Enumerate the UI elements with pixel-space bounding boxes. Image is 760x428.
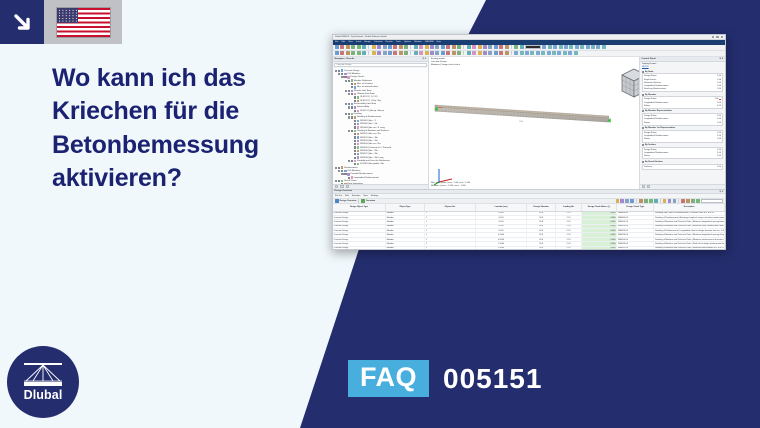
control-row-value[interactable]: 1.00 [717,82,721,84]
table-toolbar-icon-14[interactable] [681,199,685,203]
toolbar-icon-ext-6[interactable] [575,45,579,49]
model-viewport[interactable]: Existing modelConcrete DesignMembers | D… [429,57,639,189]
tree-checkbox[interactable] [354,146,356,148]
toolbar-icon-30[interactable] [494,51,498,55]
tree-checkbox[interactable] [348,103,350,105]
toolbar-icon-11[interactable] [393,45,397,49]
table-column-header[interactable]: Design Situation [527,204,556,211]
toolbar-display-field[interactable] [525,45,541,49]
control-row-value[interactable]: 1.00 [717,105,721,107]
table-column-header[interactable]: Location (xm) [476,204,527,211]
tree-item-icon [357,136,359,138]
toolbar-icon-8[interactable] [377,45,381,49]
table-cell: CO1 [556,242,581,245]
toolbar-icon-9[interactable] [383,51,387,55]
table-menu-selection[interactable]: Selection [352,195,361,197]
table-menu-file-pro[interactable]: File Pro [335,195,342,197]
control-row-value[interactable]: 1.00 [717,75,721,77]
table-cell: CO1 [556,229,581,232]
tree-checkbox[interactable] [354,140,356,142]
tree-checkbox[interactable] [354,136,356,138]
toolbar-icon-34[interactable] [514,45,518,49]
menu-item-view[interactable]: View [348,41,352,43]
control-row[interactable]: Surfaces1.00 [644,165,721,168]
control-row-value[interactable]: 1.00 [717,138,721,140]
toolbar-icon-ext-9[interactable] [563,51,567,55]
toolbar-icon-13[interactable] [404,45,408,49]
toolbar-icon-ext-0[interactable] [542,45,546,49]
navigator-tree[interactable]: -Concrete Design-ULS Members-Design Chec… [333,68,428,184]
toolbar-icon-0[interactable] [335,45,339,49]
toolbar-icon-ext-2[interactable] [553,45,557,49]
control-row-value[interactable]: 1.00 [717,118,721,120]
window-body: Navigator - Results ⚲ ✕ Concrete Design … [333,57,725,189]
table-filter-combo[interactable] [701,199,723,203]
toolbar-icon-10[interactable] [388,51,392,55]
nav-tool-1-icon[interactable] [335,185,338,188]
control-row-value[interactable]: 1.00 [717,102,721,104]
toolbar-icon-12[interactable] [399,51,403,55]
toolbar-icon-19[interactable] [435,45,439,49]
toolbar-icon-22[interactable] [452,45,456,49]
tree-checkbox[interactable] [348,90,350,92]
toolbar-icon-4[interactable] [357,45,361,49]
control-row[interactable]: Stirrup1.00 [644,155,721,158]
control-row-value[interactable]: 1.00 [717,155,721,157]
tree-checkbox[interactable] [341,170,343,172]
menu-item-options[interactable]: Options [404,41,411,43]
control-row-value[interactable]: 1.00 [717,135,721,137]
display-factors-link[interactable]: RFC20 [642,66,649,68]
table-cell: Member [386,225,425,228]
tree-expander-icon[interactable]: - [348,93,350,95]
table-cell: ULS [527,233,556,236]
toolbar-icon-ext-8[interactable] [557,51,561,55]
toolbar-icon-28[interactable] [483,51,487,55]
tree-expander-icon[interactable]: - [348,106,350,108]
toolbar-icon-ext-5[interactable] [541,51,545,55]
table-toolbar-icon-0[interactable] [616,199,620,203]
table-column-header[interactable]: Design Check Type [617,204,654,211]
tree-expander-icon[interactable]: - [345,90,347,92]
table-toolbar-icon-16[interactable] [691,199,695,203]
table-cell: 0.000 [582,229,617,232]
table-cell: 1.5000 [476,247,527,250]
control-row-value[interactable]: 1.00 [717,132,721,134]
toolbar-icon-28[interactable] [483,45,487,49]
control-group-label: By Member 1st Representative [645,127,675,129]
menu-item-help[interactable]: Help [437,41,441,43]
tree-checkbox[interactable] [344,76,346,78]
table-cell: Concrete Design [333,212,386,215]
table-pin-icon[interactable]: ⚲ ✕ [719,190,723,193]
tree-node-label: Ultimate Limit State [357,93,375,95]
tree-item-icon [357,120,359,122]
toolbar-icon-ext-0[interactable] [514,51,518,55]
control-row-value[interactable]: 1.00 [717,88,721,90]
navigator-filter-text: Concrete Design [337,64,352,66]
tree-checkbox[interactable] [354,110,356,112]
toolbar-icon-29[interactable] [488,45,492,49]
toolbar-icon-2[interactable] [346,51,350,55]
group-collapse-icon[interactable]: - [642,144,644,146]
table-cell: 0.000 [582,242,617,245]
tree-checkbox[interactable] [344,173,346,175]
table-column-header[interactable]: Design Check Ratio n [-] [582,204,617,211]
toolbar-icon-ext-7[interactable] [552,51,556,55]
table-toolbar-icon-10[interactable] [663,199,667,203]
menu-item-results[interactable]: Results [386,41,393,43]
window-controls[interactable] [712,36,723,38]
tree-node-label: DR0102 | Acc. / Na. [360,137,378,139]
table-toolbar-icon-15[interactable] [686,199,690,203]
faq-number: 005151 [443,365,542,393]
table-cell: Detailing of Members and Particular Rule… [654,247,725,250]
tree-node-label: Longitudinal Reinforcement [354,177,379,179]
toolbar-icon-5[interactable] [362,45,366,49]
language-flag-badge[interactable] [44,0,122,44]
tree-item-icon [351,79,353,81]
control-group-label: By Member Representation [645,110,672,112]
toolbar-icon-ext-4[interactable] [536,51,540,55]
control-group-header[interactable]: -By Node [642,71,723,73]
menu-item-assign[interactable]: Assign [364,41,370,43]
table-grid[interactable]: Design Object TypeObject TypeObjects No.… [333,204,725,250]
tree-checkbox[interactable] [351,86,353,88]
tree-checkbox[interactable] [348,80,350,82]
tree-checkbox[interactable] [354,163,356,165]
toolbar-icon-ext-1[interactable] [548,45,552,49]
tree-checkbox[interactable] [348,113,350,115]
toolbar-icon-ext-9[interactable] [591,45,595,49]
tree-checkbox[interactable] [354,120,356,122]
group-collapse-icon[interactable]: - [642,127,644,129]
control-group: -By MemberDesign Ratios1.00Longitudinal … [642,94,723,109]
toolbar-icon-ext-10[interactable] [596,45,600,49]
table-toolbar-icon-7[interactable] [649,199,653,203]
toolbar-icon-ext-4[interactable] [564,45,568,49]
navigator-filter[interactable]: Concrete Design [334,63,427,67]
menu-item-insert[interactable]: Insert [356,41,361,43]
toolbar-icon-17[interactable] [425,51,429,55]
tree-checkbox[interactable] [351,106,353,108]
table-cell: CO1 [556,220,581,223]
control-group-label: By Node [645,71,653,73]
control-row-label: Surfaces [644,166,652,168]
toolbar-icon-3[interactable] [351,45,355,49]
table-column-header[interactable]: Objects No. [425,204,476,211]
table-cell: 0.5000 [476,233,527,236]
table-menu-view[interactable]: View [363,195,367,197]
toolbar-icon-9[interactable] [383,45,387,49]
control-row-label: Stirrup [644,155,650,157]
tree-checkbox[interactable] [354,150,356,152]
control-panel-footer[interactable] [640,184,725,189]
tree-expander-icon[interactable]: - [341,76,343,78]
tree-checkbox[interactable] [354,123,356,125]
navigator-panel: Navigator - Results ⚲ ✕ Concrete Design … [333,57,429,189]
table-toolbar-icon-5[interactable] [639,199,643,203]
table-cell: 1 [425,212,476,215]
toolbar-icon-15[interactable] [414,51,418,55]
control-row-value[interactable]: 1.00 [717,79,721,81]
group-collapse-icon[interactable]: - [642,110,644,112]
toolbar-icon-31[interactable] [499,45,503,49]
group-collapse-icon[interactable]: - [642,161,644,163]
control-row[interactable]: Stirrup1.00 [644,138,721,141]
control-row-label: Longitudinal Reinforcement [644,85,668,87]
group-collapse-icon[interactable]: - [642,94,644,96]
toolbar-icon-ext-11[interactable] [574,51,578,55]
toolbar-icon-ext-6[interactable] [547,51,551,55]
minimize-button[interactable] [712,36,714,38]
toolbar-icon-27[interactable] [478,51,482,55]
control-row-value[interactable]: 1.00 [717,115,721,117]
table-toolbar-icon-3[interactable] [630,199,634,203]
menu-item-edit[interactable]: Edit [342,41,346,43]
toolbar-icon-ext-10[interactable] [568,51,572,55]
toolbar-icon-23[interactable] [457,45,461,49]
navigator-pin-icon[interactable]: ⚲ ✕ [422,57,426,60]
tree-expander-icon[interactable]: - [341,173,343,175]
tree-node-label: DR0107 | Acc. / Na. [360,153,378,155]
table-cell: 1 [425,238,476,241]
menu-item-calculate[interactable]: Calculate [374,41,383,43]
tree-checkbox[interactable] [348,177,350,179]
table-toolbar-icon-12[interactable] [673,199,677,203]
tree-checkbox[interactable] [338,180,340,182]
table-menu-edit[interactable]: Edit [345,195,349,197]
table-toolbar-icon-11[interactable] [668,199,672,203]
tree-item-icon [357,150,359,152]
toolbar-icon-21[interactable] [446,51,450,55]
control-row[interactable]: Stirrup1.00 [644,121,721,124]
control-row-flag-icon [719,99,721,101]
toolbar-icon-1[interactable] [340,45,344,49]
toolbar-icon-ext-5[interactable] [569,45,573,49]
toolbar-icon-15[interactable] [414,45,418,49]
tree-checkbox[interactable] [351,93,353,95]
toolbar-icon-11[interactable] [393,51,397,55]
control-row-value[interactable]: 1.00 [717,149,721,151]
tree-checkbox[interactable] [354,157,356,159]
tree-expander-icon[interactable]: - [335,167,337,169]
table-toolbar-icon-1[interactable] [620,199,624,203]
toolbar-icon-20[interactable] [441,45,445,49]
control-row-value[interactable]: 1.00 [717,152,721,154]
table-column-header[interactable]: Design Object Type [333,204,386,211]
control-row-value[interactable]: 1.00 [715,98,719,100]
control-panel-pin-icon[interactable]: ⚲ ✕ [719,57,723,60]
table-column-header[interactable]: Loading No. [556,204,581,211]
group-collapse-icon[interactable]: - [642,71,644,73]
tree-expander-icon[interactable]: - [345,103,347,105]
toolbar-icon-31[interactable] [499,51,503,55]
navigation-cube-icon[interactable] [614,63,630,79]
toolbar-icon-13[interactable] [404,51,408,55]
table-cell: DM0107.00 [617,247,654,250]
tree-checkbox[interactable] [338,70,340,72]
toolbar-icon-25[interactable] [467,51,471,55]
toolbar-icon-27[interactable] [478,45,482,49]
toolbar-icon-16[interactable] [419,45,423,49]
design-overview-table-panel: Design Overview ⚲ ✕ File ProEditSelectio… [333,189,725,250]
menu-item-window[interactable]: Window [414,41,421,43]
menu-item-tools[interactable]: Tools [396,41,401,43]
nav-tool-3-icon[interactable] [346,185,349,188]
tree-checkbox[interactable] [351,116,353,118]
toolbar-icon-ext-7[interactable] [580,45,584,49]
control-group-header[interactable]: -By Surface [642,144,723,146]
tree-checkbox[interactable] [354,96,356,98]
toolbar-icon-26[interactable] [472,51,476,55]
table-toolbar-icon-2[interactable] [625,199,629,203]
tree-expander-icon[interactable]: - [348,130,350,132]
table-column-header[interactable]: Description [654,204,725,211]
tree-node-label: Design Checks [351,76,365,78]
control-row-label: Stirrup [644,105,650,107]
table-cell: ULS [527,220,556,223]
table-cell: 0.000 [582,216,617,219]
toolbar-icon-22[interactable] [452,51,456,55]
toolbar-icon-10[interactable] [388,45,392,49]
toolbar-icon-3[interactable] [351,51,355,55]
table-tab-0[interactable]: Design Overview [335,199,356,203]
cp-tool-1-icon[interactable] [642,185,645,188]
software-screenshot: Dlubal RFEM 6 - Pipe Network - Dlubal So… [332,34,726,250]
tree-checkbox[interactable] [354,143,356,145]
tree-checkbox[interactable] [338,167,340,169]
toolbar-icon-16[interactable] [419,51,423,55]
toolbar-icon-23[interactable] [457,51,461,55]
tree-checkbox[interactable] [341,73,343,75]
tree-expander-icon[interactable]: - [348,160,350,162]
table-toolbar-icon-8[interactable] [654,199,658,203]
tree-expander-icon[interactable]: - [338,170,340,172]
control-group-header[interactable]: -By Member Representation [642,110,723,112]
toolbar-icon-25[interactable] [467,45,471,49]
control-row-value[interactable]: 1.00 [717,122,721,124]
control-row[interactable]: Reaching Reinforcement1.00 [644,87,721,90]
tree-expander-icon[interactable]: - [345,113,347,115]
tree-node-label: DR0101 | Acc.no. / Na. [360,133,381,135]
table-cell: Member [386,220,425,223]
toolbar-icon-7[interactable] [372,51,376,55]
control-group-box: Design Ratios1.00Longitudinal Reinforcem… [642,113,723,125]
toolbar-icon-0[interactable] [335,51,339,55]
tree-item-icon [357,123,359,125]
tree-expander-icon[interactable]: - [338,73,340,75]
tree-expander-icon[interactable]: - [348,116,350,118]
toolbar-icon-19[interactable] [435,51,439,55]
table-cell: 0.100 [476,216,527,219]
table-toolbar-icon-6[interactable] [644,199,648,203]
toolbar-icon-2[interactable] [346,45,350,49]
toolbar-icon-12[interactable] [399,45,403,49]
toolbar-icon-ext-2[interactable] [525,51,529,55]
dlubal-wordmark: Dlubal [24,388,63,402]
table-cell: Detailing of Members and Particular Rule… [654,238,725,241]
faq-label: FAQ [348,360,429,397]
table-toolbar-icon-17[interactable] [696,199,700,203]
bridge-truss-icon [24,363,62,386]
tree-checkbox[interactable] [354,100,356,102]
toolbar-icon-ext-1[interactable] [520,51,524,55]
table-row[interactable]: Concrete DesignMember11.5000ULSCO10.000D… [333,247,725,250]
control-group-header[interactable]: -By Result Surface [642,161,723,163]
table-cell: ULS [527,242,556,245]
tree-checkbox[interactable] [351,130,353,132]
cp-tool-2-icon[interactable] [647,185,650,188]
table-cell: 0.100 [476,225,527,228]
control-group-header[interactable]: -By Member 1st Representative [642,127,723,129]
control-group-header[interactable]: -By Member [642,94,723,96]
toolbar-icon-ext-3[interactable] [530,51,534,55]
toolbar-icon-18[interactable] [430,51,434,55]
table-tab-1[interactable]: Overview [361,199,375,203]
toolbar-icon-4[interactable] [357,51,361,55]
toolbar-icon-29[interactable] [488,51,492,55]
tree-expander-icon[interactable]: + [335,180,337,182]
close-button[interactable] [721,36,723,38]
toolbar-icon-1[interactable] [340,51,344,55]
control-row-value[interactable]: 1.00 [717,85,721,87]
toolbar-icon-7[interactable] [372,45,376,49]
toolbar-icon-30[interactable] [494,45,498,49]
tree-item-icon [357,126,359,128]
tree-checkbox[interactable] [351,83,353,85]
toolbar-icon-8[interactable] [377,51,381,55]
toolbar-icon-18[interactable] [430,45,434,49]
toolbar-icon-ext-11[interactable] [602,45,606,49]
control-row[interactable]: Stirrup1.00 [644,104,721,107]
tree-expander-icon[interactable]: - [345,80,347,82]
tree-checkbox[interactable] [354,133,356,135]
control-group-box: Design Ratios1.00Single Forces1.00Remind… [642,73,723,92]
toolbar-icon-ext-3[interactable] [559,45,563,49]
table-cell: Member [386,212,425,215]
tree-checkbox[interactable] [351,160,353,162]
control-group: -By Result SurfaceSurfaces1.00 [642,161,723,170]
tree-checkbox[interactable] [354,126,356,128]
table-menu-settings[interactable]: Settings [371,195,379,197]
table-cell: Member [386,216,425,219]
toolbar-icon-ext-8[interactable] [586,45,590,49]
toolbar-icon-26[interactable] [472,45,476,49]
nav-tool-2-icon[interactable] [340,185,343,188]
tree-item-icon [347,76,349,78]
toolbar-icon-20[interactable] [441,51,445,55]
maximize-button[interactable] [716,36,718,38]
menu-item-file[interactable]: File [335,41,338,43]
tree-expander-icon[interactable]: - [335,70,337,72]
toolbar-icon-32[interactable] [505,51,509,55]
navigator-footer[interactable] [333,184,428,189]
toolbar-icon-32[interactable] [505,45,509,49]
toolbar-icon-17[interactable] [425,45,429,49]
table-column-header[interactable]: Object Type [386,204,425,211]
table-body[interactable]: Concrete DesignMember10.000ULSCO10.000DM… [333,212,725,250]
toolbar-icon-21[interactable] [446,45,450,49]
control-row-label: Longitudinal Reinforcement [644,102,668,104]
tree-item-icon [351,113,353,115]
menu-item-cad-bim[interactable]: CAD/BIM [425,41,434,43]
toolbar-icon-5[interactable] [362,51,366,55]
table-cell: Detailing of Members and Particular Rule… [654,233,725,236]
tree-checkbox[interactable] [354,153,356,155]
toolbar-icon-35[interactable] [520,45,524,49]
control-row-value[interactable]: 1.00 [717,166,721,168]
